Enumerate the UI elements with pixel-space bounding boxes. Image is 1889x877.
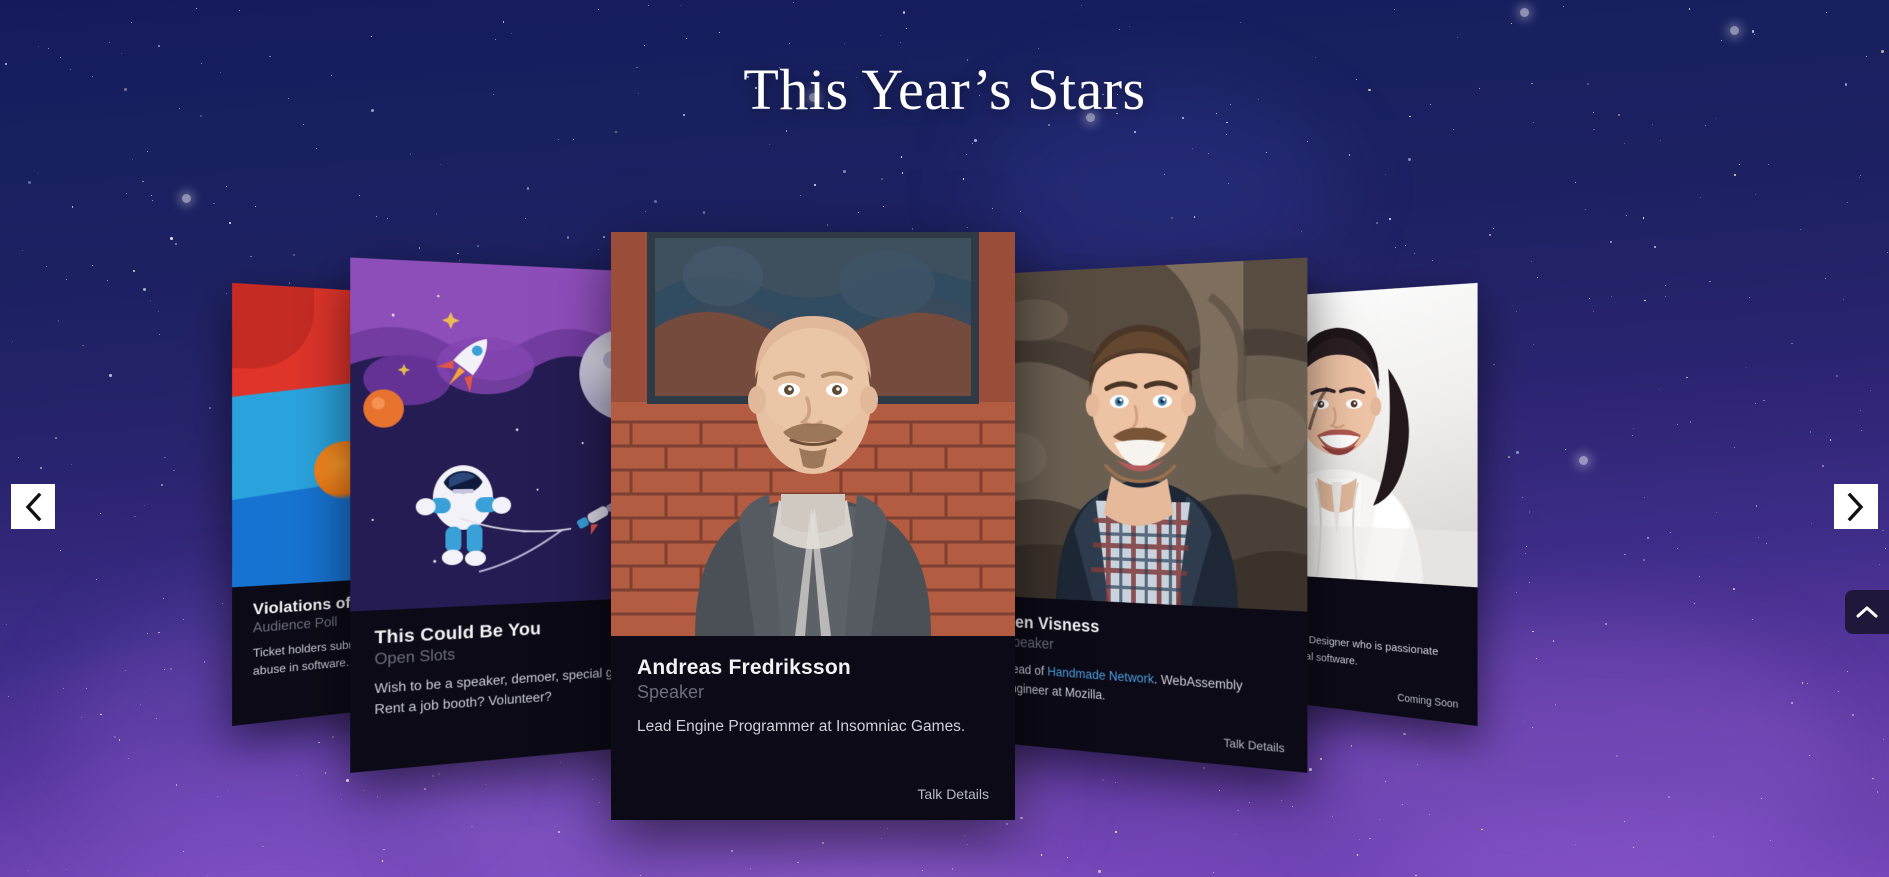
page-title: This Year’s Stars — [0, 56, 1889, 123]
card-description-text: Professional UX/UI Designer who is passi… — [1225, 626, 1438, 667]
card-body: Ben Visness Speaker Head of Handmade Net… — [985, 595, 1307, 772]
card-body: Jes Chuhta Fireside Chat Professional UX… — [1210, 570, 1478, 726]
windows-logo-social-icons-collage-icon — [232, 283, 521, 587]
chevron-left-icon — [24, 493, 42, 521]
social-network-icons-icon — [394, 293, 521, 578]
card-description: Head of Handmade Network. WebAssembly en… — [1004, 659, 1266, 719]
card-body: Violations of User Trust Audience Poll T… — [232, 570, 521, 726]
card-role: Audience Poll — [253, 602, 504, 637]
speaker-card[interactable]: Violations of User Trust Audience Poll T… — [232, 283, 521, 726]
card-title: Ben Visness — [1004, 612, 1285, 648]
speaker-carousel: Violations of User Trust Audience Poll T… — [0, 0, 1889, 877]
portrait-photo-brick-wall-icon — [611, 232, 1015, 636]
card-role: Fireside Chat — [1225, 602, 1458, 637]
card-media — [232, 283, 521, 587]
speaker-card[interactable]: Jes Chuhta Fireside Chat Professional UX… — [1210, 283, 1478, 726]
card-description-text: Lead Engine Programmer at Insomniac Game… — [637, 718, 965, 735]
card-cta-link[interactable]: Talk Details — [917, 786, 989, 802]
card-media — [985, 258, 1307, 612]
card-role: Speaker — [1004, 633, 1285, 669]
card-cta-link[interactable]: Talk Details — [1224, 736, 1285, 755]
card-description: Lead Engine Programmer at Insomniac Game… — [637, 715, 967, 739]
back-to-top-button[interactable] — [1845, 590, 1889, 634]
portrait-photo-white-background-icon — [1210, 283, 1478, 587]
card-title: Violations of User Trust — [253, 585, 504, 619]
card-body: Andreas Fredriksson Speaker Lead Engine … — [611, 636, 1015, 820]
card-description-text: Wish to be a speaker, demoer, special gu… — [374, 664, 643, 718]
card-media — [1210, 283, 1478, 587]
carousel-prev-button[interactable] — [11, 484, 55, 529]
card-title: Jes Chuhta — [1225, 585, 1458, 619]
card-description: Professional UX/UI Designer who is passi… — [1225, 624, 1442, 679]
card-media — [611, 232, 1015, 636]
carousel-next-button[interactable] — [1834, 484, 1878, 529]
card-cta-link[interactable]: Coming Soon — [1397, 691, 1458, 710]
card-description: Ticket holders submit evidence of egregi… — [253, 625, 490, 681]
chevron-up-icon — [1856, 605, 1878, 619]
speaker-card-active[interactable]: Andreas Fredriksson Speaker Lead Engine … — [611, 232, 1015, 820]
card-cta-link[interactable]: Coming Soon — [448, 672, 504, 689]
card-title: Andreas Fredriksson — [637, 656, 989, 679]
handmade-network-link[interactable]: Handmade Network — [1047, 665, 1154, 687]
page-root: This Year’s Stars — [0, 0, 1889, 877]
speaker-card[interactable]: Ben Visness Speaker Head of Handmade Net… — [985, 258, 1307, 773]
card-role: Speaker — [637, 682, 989, 704]
card-description-text: Ticket holders submit evidence of egregi… — [253, 629, 472, 678]
card-description-text-after: . WebAssembly engineer at Mozilla. — [1004, 672, 1243, 702]
chevron-right-icon — [1847, 493, 1865, 521]
portrait-photo-rocks-icon — [985, 258, 1307, 612]
